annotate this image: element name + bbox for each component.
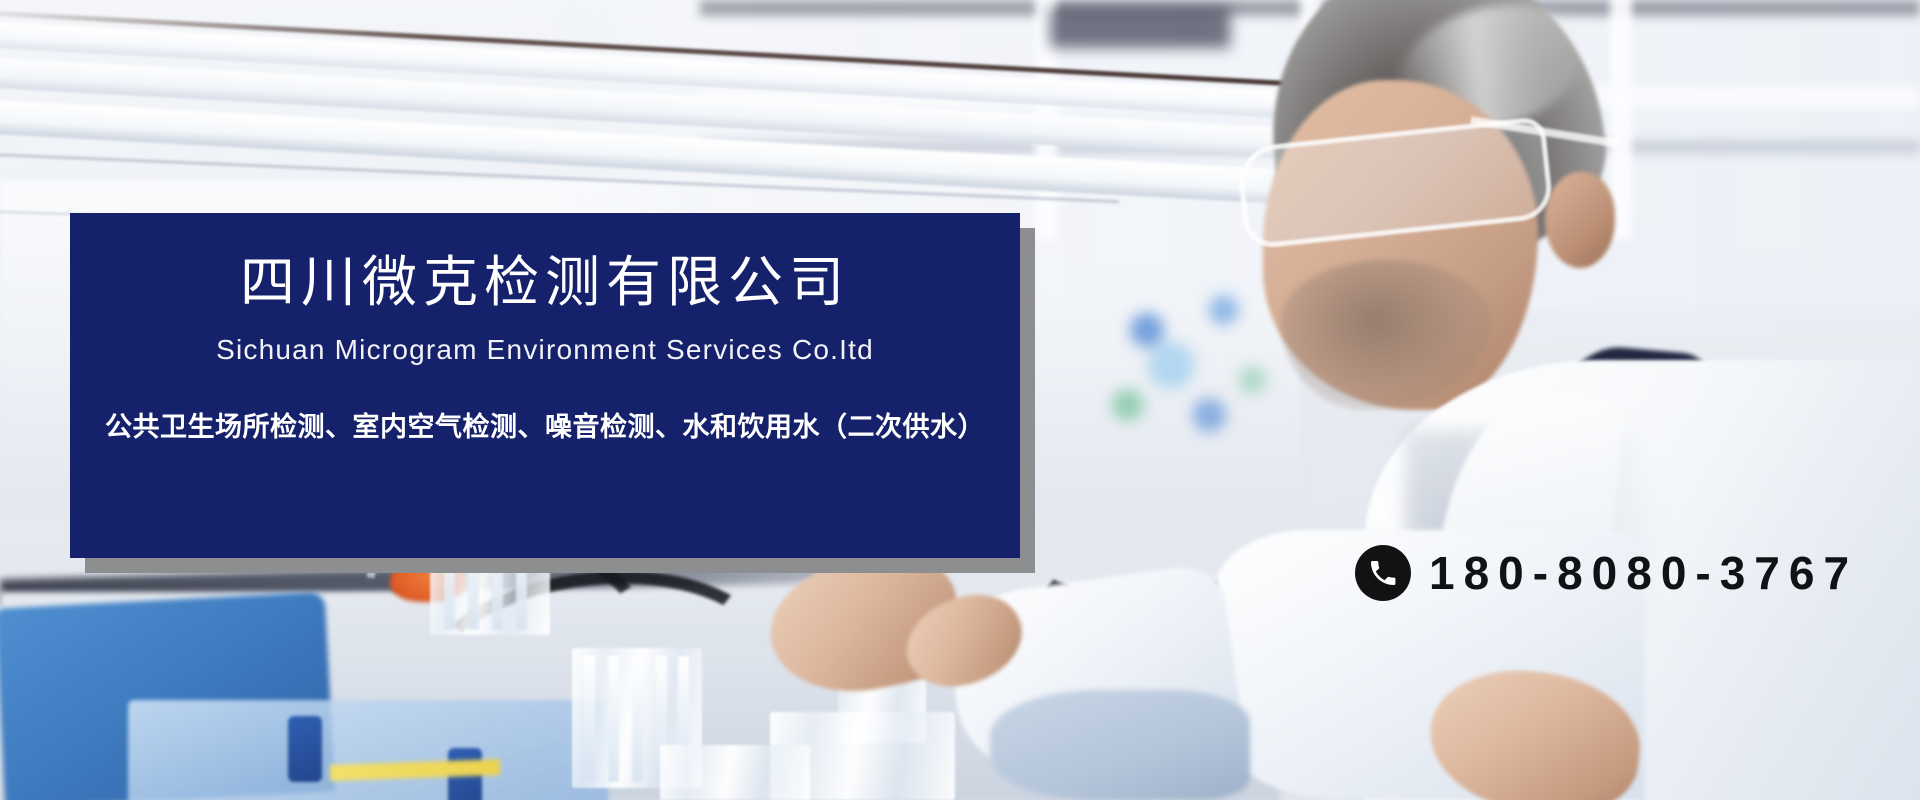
hero-banner: 四川微克检测有限公司 Sichuan Microgram Environment…	[0, 0, 1920, 800]
gel-tank-clamp-1	[288, 716, 322, 782]
company-name-english: Sichuan Microgram Environment Services C…	[216, 336, 874, 364]
shirt-cuff	[990, 690, 1250, 800]
gel-tank	[128, 700, 608, 800]
services-list: 公共卫生场所检测、室内空气检测、噪音检测、水和饮用水（二次供水）	[105, 414, 985, 441]
scientist-ear	[1545, 172, 1615, 268]
glass-beaker	[660, 745, 810, 800]
company-info-panel: 四川微克检测有限公司 Sichuan Microgram Environment…	[70, 213, 1020, 558]
phone-number-text[interactable]: 180-8080-3767	[1429, 550, 1858, 596]
contact-phone-block[interactable]: 180-8080-3767	[1355, 545, 1858, 601]
company-name-chinese: 四川微克检测有限公司	[240, 255, 850, 310]
phone-handset-icon	[1355, 545, 1411, 601]
shelf-dark-container	[1050, 8, 1230, 48]
